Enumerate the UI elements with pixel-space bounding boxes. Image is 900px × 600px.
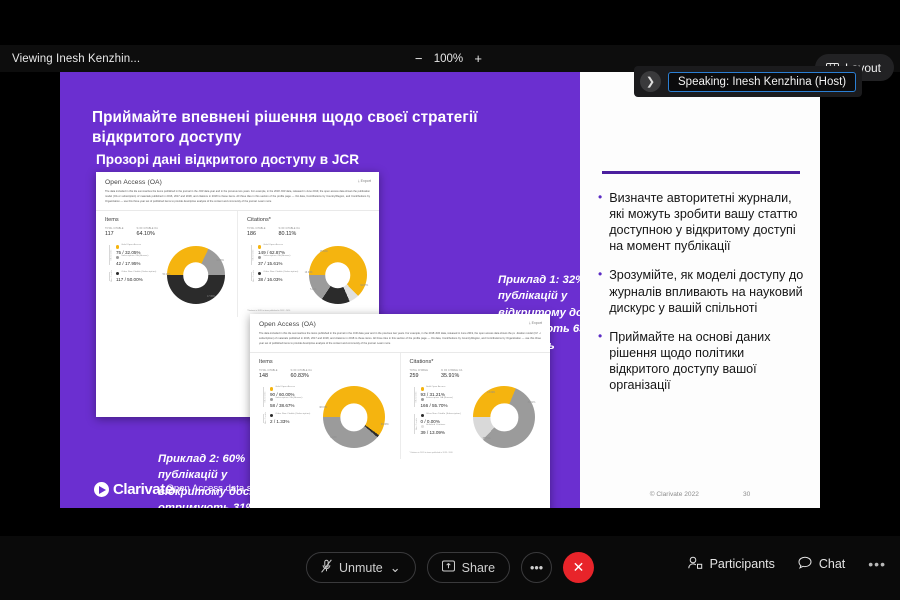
legend-category: Gold Open Access	[275, 386, 295, 389]
legend-entry: Other Non-Citable (Subscription)117 / 50…	[116, 271, 157, 282]
summary-stat: Total Citable148	[259, 370, 277, 379]
chart-legend: OA CitableGold Open Access93 / 31.21%Sub…	[410, 386, 462, 439]
our-research-link[interactable]: Our Research↗	[306, 483, 374, 494]
legend-value: 38 / 16.03%	[258, 277, 299, 282]
legend-entry: Gold Open Access90 / 60.00%	[270, 386, 311, 397]
participants-icon	[688, 556, 703, 572]
legend-entry: Gold Open Access149 / 62.87%	[258, 244, 299, 255]
card-header: Open Access (OA)⤓ Export	[96, 172, 379, 186]
panel-heading: Citations*	[410, 359, 544, 365]
stat-value: 64.10%	[136, 231, 157, 237]
legend-entry: Other Non-Citable (Subscription)2 / 1.33…	[270, 413, 311, 424]
legend-group-label: Non Citable	[111, 270, 113, 282]
stat-value: 117	[105, 231, 123, 237]
summary-stat: Total Citable186	[247, 228, 265, 237]
stat-label: % of Citable OA	[136, 228, 157, 230]
chart-legend: OA CitableGold Open Access90 / 60.00%Sub…	[259, 386, 311, 428]
clarivate-logo: Clarivate ™	[94, 481, 183, 498]
donut-chart-container: 32.05%17.95%50.00%	[161, 244, 230, 306]
microphone-muted-icon	[321, 559, 332, 576]
card-title: Open Access (OA)	[259, 321, 316, 328]
legend-swatch-icon	[116, 256, 119, 259]
legend-category: Other Non-Citable (Subscription)	[275, 413, 310, 416]
note-text: Визначте авторитетні журнали, які можуть…	[609, 190, 806, 254]
stat-value: 80.11%	[278, 231, 299, 237]
participants-button[interactable]: Participants	[688, 556, 775, 572]
legend-swatch-icon	[258, 272, 261, 275]
panel-heading: Items	[259, 359, 393, 365]
stat-label: Total Citable	[259, 370, 277, 372]
bullet-icon: •	[598, 329, 602, 393]
stat-label: Total Citable	[105, 228, 123, 230]
legend-category: Gold Open Access	[263, 244, 283, 247]
stat-label: % of Citable OA	[290, 370, 311, 372]
legend-group-label: Non Citable	[265, 412, 267, 424]
legend-value: 58 / 38.67%	[270, 403, 311, 408]
donut-segment-label: 31.21%	[527, 402, 535, 404]
legend-entry: Subscription OA (Bronze)37 / 15.61%	[258, 255, 299, 266]
chat-bubble-icon	[798, 556, 812, 572]
metric-panel: Citations*Total Citable259% of Citable O…	[400, 353, 551, 459]
export-button[interactable]: ⤓ Export	[358, 179, 371, 183]
panel-summary-stats: Total Citable117% of Citable OA64.10%	[105, 228, 230, 237]
legend-value: 42 / 17.95%	[116, 261, 157, 266]
legend-category: Unlinked Citations	[426, 424, 445, 427]
legend-group: OA CitableGold Open Access75 / 32.05%Sub…	[110, 244, 157, 266]
legend-value: 37 / 15.61%	[258, 261, 299, 266]
legend-entry: Subscription OA (Bronze)58 / 38.67%	[270, 397, 311, 408]
metric-panel: ItemsTotal Citable117% of Citable OA64.1…	[96, 211, 237, 317]
unmute-button-label: Unmute	[339, 561, 383, 575]
legend-entry: Other Non-Citable (Subscription)0 / 0.00…	[421, 413, 462, 424]
legend-category: Other Non-Citable (Subscription)	[263, 271, 298, 274]
donut-segment-label: 17.95%	[207, 296, 215, 298]
donut-chart-container: 62.87%5.49%16.03%15.61%	[303, 244, 372, 306]
participants-label: Participants	[710, 557, 775, 571]
donut-chart-container: 60.00%1.33%38.67%	[315, 386, 393, 448]
zoom-meeting-window: Viewing Inesh Kenzhin... − 100% + Layout…	[0, 0, 900, 600]
card-panels: ItemsTotal Citable148% of Citable OA60.8…	[250, 353, 550, 459]
donut-segment-label: 1.33%	[330, 437, 337, 439]
legend-swatch-icon	[421, 387, 424, 390]
card-panels: ItemsTotal Citable117% of Citable OA64.1…	[96, 211, 379, 317]
panel-body: OA CitableGold Open Access149 / 62.87%Su…	[247, 244, 372, 306]
legend-group-label: Non Citable	[253, 270, 255, 282]
slide-subtitle: Прозорі дані відкритого доступу в JCR	[96, 152, 536, 168]
expand-chevron-icon[interactable]: ❯	[640, 71, 661, 92]
panel-body: OA CitableGold Open Access75 / 32.05%Sub…	[105, 244, 230, 306]
donut-segment-label: 60.00%	[381, 424, 389, 426]
notes-divider	[602, 171, 800, 174]
donut-segment-label: 32.05%	[216, 260, 224, 262]
legend-swatch-icon	[116, 272, 119, 275]
secondary-controls: Participants Chat •••	[688, 556, 886, 572]
zoom-in-button[interactable]: +	[474, 52, 482, 65]
legend-group: OA CitableGold Open Access149 / 62.87%Su…	[252, 244, 299, 266]
legend-swatch-icon	[270, 414, 273, 417]
slide-callout-2: Приклад 2: 60% публікацій у відкритому д…	[158, 451, 293, 508]
viewing-label: Viewing Inesh Kenzhin...	[12, 53, 140, 65]
legend-swatch-icon	[258, 245, 261, 248]
page-number-label: 30	[743, 491, 750, 498]
legend-group-label: OA Citable	[111, 250, 113, 261]
card-title: Open Access (OA)	[105, 179, 162, 186]
donut-segment-label: 16.03%	[305, 272, 313, 274]
legend-group-label: OA Citable	[253, 250, 255, 261]
legend-swatch-icon	[421, 414, 424, 417]
unmute-button[interactable]: Unmute ⌄	[306, 552, 416, 583]
clarivate-mark-icon	[94, 482, 109, 497]
chart-legend: OA CitableGold Open Access75 / 32.05%Sub…	[105, 244, 157, 286]
legend-group: Non CitableOther Non-Citable (Subscripti…	[264, 413, 311, 424]
stat-label: % of Citable OA	[441, 370, 462, 372]
donut-segment-label: 50.00%	[163, 274, 171, 276]
legend-group-label: Non Citable	[416, 418, 418, 430]
summary-stat: % of Citable OA60.83%	[290, 370, 311, 379]
stat-value: 35.91%	[441, 373, 462, 379]
note-text: Приймайте на основі даних рішення щодо п…	[609, 329, 806, 393]
donut-segment-label: 13.09%	[487, 392, 495, 394]
active-speaker-label: Speaking: Inesh Kenzhina (Host)	[668, 72, 856, 92]
note-text: Зрозумійте, як моделі доступу до журналі…	[609, 267, 806, 315]
panel-footnote: *Citations in 2020 to items published in…	[410, 448, 544, 459]
panel-summary-stats: Total Citable186% of Citable OA80.11%	[247, 228, 372, 237]
stat-label: % of Citable OA	[278, 228, 299, 230]
zoom-level-label: 100%	[433, 53, 463, 65]
card-description: The data included in this tile summarize…	[96, 186, 379, 204]
legend-group: Non CitableOther Non-Citable (Subscripti…	[252, 271, 299, 282]
summary-stat: % of Citable OA80.11%	[278, 228, 299, 237]
legend-entry: Other Non-Citable (Subscription)38 / 16.…	[258, 271, 299, 282]
metric-panel: Citations*Total Citable186% of Citable O…	[237, 211, 379, 317]
notes-bullet-list: •Визначте авторитетні журнали, які можут…	[598, 190, 806, 406]
legend-swatch-icon	[116, 245, 119, 248]
share-screen-icon	[442, 560, 455, 575]
legend-swatch-icon	[258, 256, 261, 259]
note-item: •Приймайте на основі даних рішення щодо …	[598, 329, 806, 393]
copyright-label: © Clarivate 2022	[650, 491, 699, 498]
legend-group-label: OA Citable	[265, 392, 267, 403]
legend-swatch-icon	[270, 398, 273, 401]
donut-segment-label: 62.87%	[360, 285, 368, 287]
legend-swatch-icon	[421, 425, 424, 428]
legend-group: Non CitableOther Non-Citable (Subscripti…	[415, 413, 462, 435]
stat-value: 186	[247, 231, 265, 237]
panel-heading: Citations*	[247, 217, 372, 223]
donut-segment-label: 15.61%	[320, 251, 328, 253]
panel-summary-stats: Total Citable148% of Citable OA60.83%	[259, 370, 393, 379]
stat-value: 259	[410, 373, 428, 379]
clarivate-wordmark: Clarivate	[113, 481, 173, 498]
donut-segment-label: 55.70%	[483, 438, 491, 440]
primary-controls: Unmute ⌄ Share ••• ✕	[306, 552, 594, 583]
legend-swatch-icon	[270, 387, 273, 390]
more-options-button[interactable]: •••	[521, 552, 552, 583]
panel-body: OA CitableGold Open Access90 / 60.00%Sub…	[259, 386, 393, 448]
legend-entry: Unlinked Citations39 / 13.09%	[421, 424, 462, 435]
trademark-symbol: ™	[177, 487, 183, 493]
legend-entry: Gold Open Access75 / 32.05%	[116, 244, 157, 255]
legend-category: Other Non-Citable (Subscription)	[426, 413, 461, 416]
panel-body: OA CitableGold Open Access93 / 31.21%Sub…	[410, 386, 544, 448]
chat-button[interactable]: Chat	[798, 556, 845, 572]
slide-title: Приймайте впевнені рішення щодо своєї ст…	[92, 108, 542, 147]
zoom-out-button[interactable]: −	[415, 52, 423, 65]
legend-swatch-icon	[421, 398, 424, 401]
chevron-down-icon[interactable]: ⌄	[390, 565, 401, 570]
legend-value: 117 / 50.00%	[116, 277, 157, 282]
legend-group: OA CitableGold Open Access93 / 31.21%Sub…	[415, 386, 462, 408]
chat-label: Chat	[819, 557, 845, 571]
legend-entry: Gold Open Access93 / 31.21%	[421, 386, 462, 397]
summary-stat: Total Citable259	[410, 370, 428, 379]
summary-stat: Total Citable117	[105, 228, 123, 237]
bullet-icon: •	[598, 267, 602, 315]
stat-label: Total Citable	[410, 370, 428, 372]
legend-group: Non CitableOther Non-Citable (Subscripti…	[110, 271, 157, 282]
share-button[interactable]: Share	[427, 552, 510, 583]
legend-group-label: OA Citable	[415, 392, 417, 403]
legend-entry: Subscription OA (Bronze)42 / 17.95%	[116, 255, 157, 266]
zoom-controls: − 100% +	[415, 45, 482, 72]
summary-stat: % of Citable OA64.10%	[136, 228, 157, 237]
note-item: •Зрозумійте, як моделі доступу до журнал…	[598, 267, 806, 315]
legend-category: Subscription OA (Bronze)	[275, 397, 302, 400]
panel-summary-stats: Total Citable259% of Citable OA35.91%	[410, 370, 544, 379]
note-item: •Визначте авторитетні журнали, які можут…	[598, 190, 806, 254]
donut-chart	[167, 246, 225, 304]
notes-panel: •Визначте авторитетні журнали, які можут…	[580, 72, 820, 508]
caption-text-before: Open Access data sourced from	[166, 483, 305, 494]
stat-value: 60.83%	[290, 373, 311, 379]
panel-heading: Items	[105, 217, 230, 223]
speaking-banner: ❯ Speaking: Inesh Kenzhina (Host)	[634, 66, 862, 97]
legend-category: Gold Open Access	[426, 386, 446, 389]
donut-chart	[323, 386, 385, 448]
donut-chart	[309, 246, 367, 304]
share-button-label: Share	[462, 561, 495, 575]
legend-value: 2 / 1.33%	[270, 419, 311, 424]
summary-stat: % of Citable OA35.91%	[441, 370, 462, 379]
donut-segment-label: 38.67%	[319, 407, 327, 409]
legend-entry: Subscription OA (Bronze)166 / 55.70%	[421, 397, 462, 408]
donut-chart-container: 31.21%55.70%13.09%	[466, 386, 544, 448]
shared-slide[interactable]: Приймайте впевнені рішення щодо своєї ст…	[60, 72, 580, 508]
legend-group: OA CitableGold Open Access90 / 60.00%Sub…	[264, 386, 311, 408]
legend-value: 39 / 13.09%	[421, 430, 462, 435]
slide-callout-1: Приклад 1: 32% публікацій у відкритому д…	[498, 272, 580, 354]
donut-segment-label: 5.49%	[310, 289, 317, 291]
chart-legend: OA CitableGold Open Access149 / 62.87%Su…	[247, 244, 299, 286]
leave-meeting-button[interactable]: ✕	[563, 552, 594, 583]
legend-category: Other Non-Citable (Subscription)	[121, 271, 156, 274]
legend-category: Subscription OA (Bronze)	[121, 255, 148, 258]
legend-value: 166 / 55.70%	[421, 403, 462, 408]
legend-category: Subscription OA (Bronze)	[263, 255, 290, 258]
overflow-menu-button[interactable]: •••	[868, 556, 886, 572]
caption-text-after: (formerly ImpactStory).	[373, 483, 473, 494]
stat-value: 148	[259, 373, 277, 379]
legend-category: Subscription OA (Bronze)	[426, 397, 453, 400]
meeting-control-bar: Unmute ⌄ Share ••• ✕ Participants	[0, 536, 900, 600]
bullet-icon: •	[598, 190, 602, 254]
notes-footer: © Clarivate 2022 30	[580, 491, 820, 498]
stat-label: Total Citable	[247, 228, 265, 230]
metric-panel: ItemsTotal Citable148% of Citable OA60.8…	[250, 353, 400, 459]
legend-category: Gold Open Access	[121, 244, 141, 247]
